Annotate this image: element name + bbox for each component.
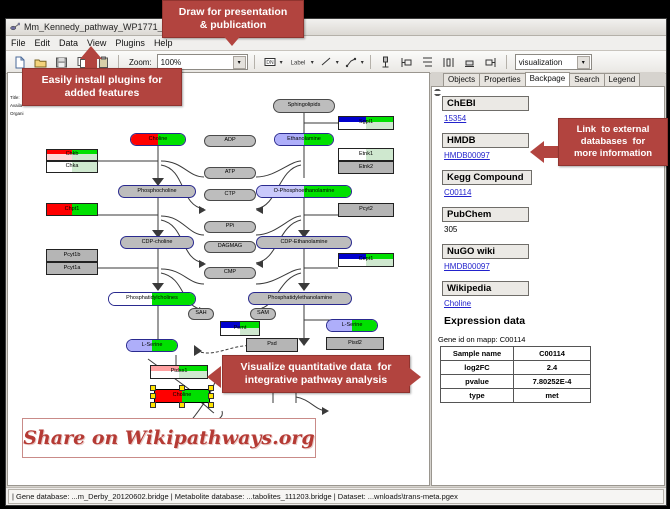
chevron-down-icon[interactable]: ▾ [280,59,283,66]
callout-visualize: Visualize quantitative data forintegrati… [222,355,410,393]
tab-objects[interactable]: Objects [443,73,480,86]
align-top-icon[interactable] [377,53,395,71]
expr-value-pvalue: 7.80252E-4 [514,375,591,389]
node-label: PPi [226,224,235,230]
gene-box-psd[interactable]: Psd [246,338,298,352]
node-ctp[interactable]: CTP [204,189,256,201]
callout-draw-text: Draw for presentation& publication [163,1,303,37]
node-label: DAGMAG [218,244,242,250]
toolbar-separator-1 [118,55,119,69]
callout-visualize-text: Visualize quantitative data forintegrati… [223,356,409,392]
node-label: CDP-Ethanolamine [280,240,327,246]
node-label: CMP [224,270,236,276]
gene-box-chka[interactable]: Chka [46,161,98,173]
callout-draw-arrow-icon [221,33,243,46]
node-label: SAM [257,311,269,317]
gene-box-pcyt1a[interactable]: Pcyt1a [46,262,98,275]
gene-box-pcyt2[interactable]: Pcyt2 [338,203,394,217]
expression-data-heading: Expression data [444,315,656,327]
side-panel-tabs: Objects Properties Backpage Search Legen… [431,72,665,86]
toolbar-separator-2 [254,55,255,69]
zoom-value: 100% [161,58,181,67]
interaction-tool-button[interactable]: ▾ [342,53,364,71]
node-dagmag[interactable]: DAGMAG [204,241,256,253]
callout-links: Link to externaldatabases formore inform… [558,118,668,166]
section-header-wikipedia: Wikipedia [442,281,529,296]
gene-box-pemt[interactable]: Pemt [220,321,260,336]
zoom-label: Zoom: [129,58,152,67]
node-atp[interactable]: ATP [204,167,256,179]
gene-label: Pcyt2 [359,207,373,213]
selection-handle-w[interactable] [150,393,156,399]
gene-box-ptdss1[interactable]: Ptdss1 [150,365,208,379]
node-phosphocholine[interactable]: Phosphocholine [118,185,196,198]
node-label: Phosphatidylethanolamine [268,296,333,302]
gene-label: Psd [267,342,276,348]
node-choline-top[interactable]: Choline [130,133,186,146]
node-phosphatidylcholines[interactable]: Phosphatidylcholines [108,292,196,306]
gene-label: Pcyt1a [64,266,81,272]
visualization-value: visualization [519,58,563,67]
label-icon[interactable]: Label [286,53,310,71]
callout-share: Share on Wikipathways.org [22,418,316,458]
selection-handle-e[interactable] [208,393,214,399]
callout-links-arrow-icon [530,141,544,163]
callout-plugins: Easily install plugins foradded features [22,68,182,106]
section-link-kegg[interactable]: C00114 [444,188,656,197]
selection-handle-nw[interactable] [150,385,156,391]
gene-label: Chkb [66,152,79,158]
menu-data[interactable]: Data [59,38,78,48]
node-label: CDP-choline [142,240,173,246]
expr-value-log2fc: 2.4 [514,361,591,375]
node-cdp-choline[interactable]: CDP-choline [120,236,194,249]
node-label: CTP [225,192,236,198]
selection-handle-n[interactable] [179,385,185,391]
svg-text:DN: DN [266,60,274,66]
gene-label: Etnk1 [359,152,373,158]
callout-share-text: Share on Wikipathways.org [23,427,314,449]
chevron-down-icon[interactable]: ▾ [233,56,246,69]
table-row: type met [441,389,591,403]
node-choline-selected[interactable]: Choline [154,389,210,403]
gene-box-etnk1[interactable]: Etnk1 [338,148,394,161]
expression-table: Sample name C00114 log2FC 2.4 pvalue 7.8… [440,346,591,403]
callout-visualize-arrow-left-icon [207,366,221,388]
node-label: Choline [149,137,168,143]
gene-label: Chka [66,164,79,170]
tab-legend[interactable]: Legend [604,73,641,86]
gene-label: Sgpl1 [359,120,373,126]
visualization-combobox[interactable]: visualization ▾ [515,54,592,70]
section-link-nugowiki[interactable]: HMDB00097 [444,262,656,271]
status-text: | Gene database: ...m_Derby_20120602.bri… [8,489,664,504]
node-label: Phosphocholine [137,189,176,195]
chevron-down-icon[interactable]: ▾ [336,59,339,66]
node-cdp-ethanolamine[interactable]: CDP-Ethanolamine [256,236,352,249]
node-sah[interactable]: SAH [188,308,214,320]
menu-bar: File Edit Data View Plugins Help [6,36,666,51]
node-label: Sphingolipids [288,103,321,109]
expr-value-sample: C00114 [514,347,591,361]
gene-box-cept1[interactable]: Cept1 [338,253,394,267]
node-l-serine-left[interactable]: L-Serine [126,339,178,352]
gene-box-sgpl1[interactable]: Sgpl1 [338,116,394,130]
align-left-icon[interactable] [398,53,416,71]
gene-box-pisd2[interactable]: Pisd2 [326,337,384,350]
tab-properties[interactable]: Properties [479,73,525,86]
gene-box-etnk2[interactable]: Etnk2 [338,161,394,174]
node-label: ATP [225,170,235,176]
interaction-icon[interactable] [342,53,360,71]
gene-id-on-mapp: Gene id on mapp: C00114 [438,335,664,344]
expr-value-type: met [514,389,591,403]
table-row: log2FC 2.4 [441,361,591,375]
callout-plugins-arrow-icon [80,46,102,59]
stack-icon[interactable] [461,53,479,71]
node-ethanolamine-top[interactable]: Ethanolamine [274,133,334,146]
selection-handle-sw[interactable] [150,402,156,408]
title-bar: Mm_Kennedy_pathway_WP1771_45176.gpml [6,19,666,36]
section-value-pubchem: 305 [444,225,656,234]
datanode-icon[interactable]: DN [261,53,279,71]
node-label: Phosphatidylcholines [126,296,178,302]
node-label: Choline [173,393,192,399]
distribute-icon[interactable] [440,53,458,71]
node-label: O-Phosphoethanolamine [274,189,335,195]
callout-plugins-text: Easily install plugins foradded features [23,69,181,105]
section-header-kegg: Kegg Compound [442,170,532,185]
table-row: pvalue 7.80252E-4 [441,375,591,389]
expr-label-log2fc: log2FC [441,361,514,375]
section-header-chebi: ChEBI [442,96,529,111]
tab-search[interactable]: Search [569,73,604,86]
node-l-serine-right[interactable]: L-Serine [326,319,378,332]
expr-label-pvalue: pvalue [441,375,514,389]
node-label: L-Serine [342,323,363,329]
node-adp[interactable]: ADP [204,135,256,147]
chevron-down-icon[interactable]: ▾ [577,56,590,69]
node-sphingolipids[interactable]: Sphingolipids [273,99,335,113]
line-tool-button[interactable]: ▾ [317,53,339,71]
align-right-icon[interactable] [482,53,500,71]
section-header-nugowiki: NuGO wiki [442,244,529,259]
gene-label: Chpt1 [65,207,80,213]
node-ppi[interactable]: PPi [204,221,256,233]
gene-label: Etnk2 [359,165,373,171]
node-o-phosphoethanolamine[interactable]: O-Phosphoethanolamine [256,185,352,198]
expr-label-sample: Sample name [441,347,514,361]
section-header-hmdb: HMDB [442,133,529,148]
status-bar: | Gene database: ...m_Derby_20120602.bri… [6,487,666,505]
node-sam[interactable]: SAM [250,308,276,320]
line-icon[interactable] [317,53,335,71]
label-tool-button[interactable]: Label ▾ [286,53,314,71]
chevron-down-icon[interactable]: ▾ [311,59,314,66]
toolbar-separator-3 [370,55,371,69]
screenshot-root: Mm_Kennedy_pathway_WP1771_45176.gpml Fil… [0,0,670,509]
gene-box-chpt1[interactable]: Chpt1 [46,203,98,216]
tab-backpage[interactable]: Backpage [525,72,571,86]
gene-label: Pisd2 [348,341,362,347]
node-label: Ethanolamine [287,137,321,143]
gene-label: Ptdss1 [171,369,188,375]
selection-handle-s[interactable] [179,402,185,408]
scroll-grip-icon[interactable] [434,89,441,99]
expr-label-type: type [441,389,514,403]
gene-label: Pemt [234,326,247,332]
chevron-down-icon[interactable]: ▾ [361,59,364,66]
menu-file[interactable]: File [11,38,26,48]
pathvisio-icon [10,22,20,32]
node-label: SAH [195,311,206,317]
menu-help[interactable]: Help [154,38,173,48]
section-link-wikipedia[interactable]: Choline [444,299,656,308]
svg-text:Label: Label [290,61,305,67]
callout-visualize-arrow-right-icon [407,366,421,388]
node-label: L-Serine [142,343,163,349]
menu-edit[interactable]: Edit [35,38,51,48]
align-rows-icon[interactable] [419,53,437,71]
menu-plugins[interactable]: Plugins [115,38,145,48]
gene-box-chkb[interactable]: Chkb [46,149,98,161]
toolbar-separator-4 [506,55,507,69]
node-phosphatidylethanolamine[interactable]: Phosphatidylethanolamine [248,292,352,305]
gene-box-pcyt1b[interactable]: Pcyt1b [46,249,98,262]
datanode-button[interactable]: DN ▾ [261,53,283,71]
node-cmp[interactable]: CMP [204,267,256,279]
section-header-pubchem: PubChem [442,207,529,222]
table-row: Sample name C00114 [441,347,591,361]
node-label: ADP [224,138,235,144]
selection-handle-se[interactable] [208,402,214,408]
gene-label: Cept1 [359,257,374,263]
gene-label: Pcyt1b [64,253,81,259]
callout-links-text: Link to externaldatabases formore inform… [559,119,667,165]
